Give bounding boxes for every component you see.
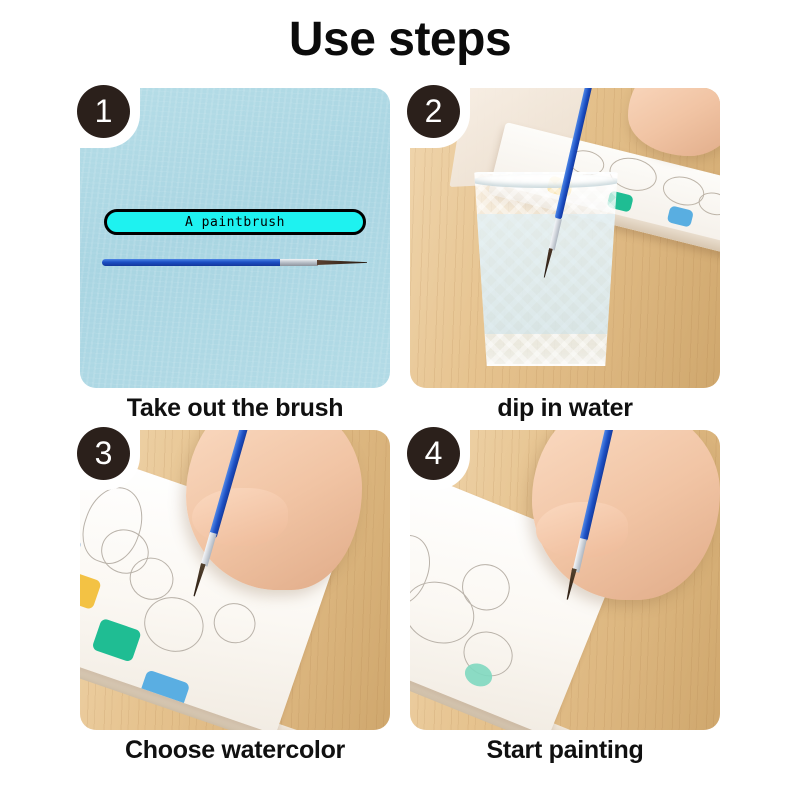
step-number-badge-3: 3: [77, 427, 130, 480]
steps-grid: A paintbrush 1 Take out the brush: [0, 88, 800, 800]
watercolor-swatch-blue: [667, 205, 694, 227]
brush-tip: [565, 568, 577, 600]
paintbrush-label-text: A paintbrush: [185, 215, 285, 230]
watercolor-swatch-yellow: [80, 569, 102, 610]
brush-ferrule: [280, 259, 318, 266]
brush-handle: [102, 259, 282, 266]
brush-ferrule: [201, 532, 217, 567]
brush-handle: [579, 430, 616, 543]
page-title: Use steps: [0, 14, 800, 67]
brush-tip: [317, 260, 367, 265]
paintbrush-illustration: [552, 430, 622, 626]
paintbrush-illustration: [586, 88, 600, 292]
paintbrush-label-pill: A paintbrush: [104, 209, 366, 235]
watercolor-swatch-teal: [91, 618, 141, 663]
paintbrush-illustration: [102, 256, 368, 268]
brush-handle: [208, 430, 249, 539]
step-4-caption: Start painting: [370, 736, 760, 765]
brush-ferrule: [572, 538, 586, 573]
paintbrush-illustration: [198, 430, 268, 620]
step-number-badge-4: 4: [407, 427, 460, 480]
step-number-badge-1: 1: [77, 85, 130, 138]
step-number-badge-2: 2: [407, 85, 460, 138]
